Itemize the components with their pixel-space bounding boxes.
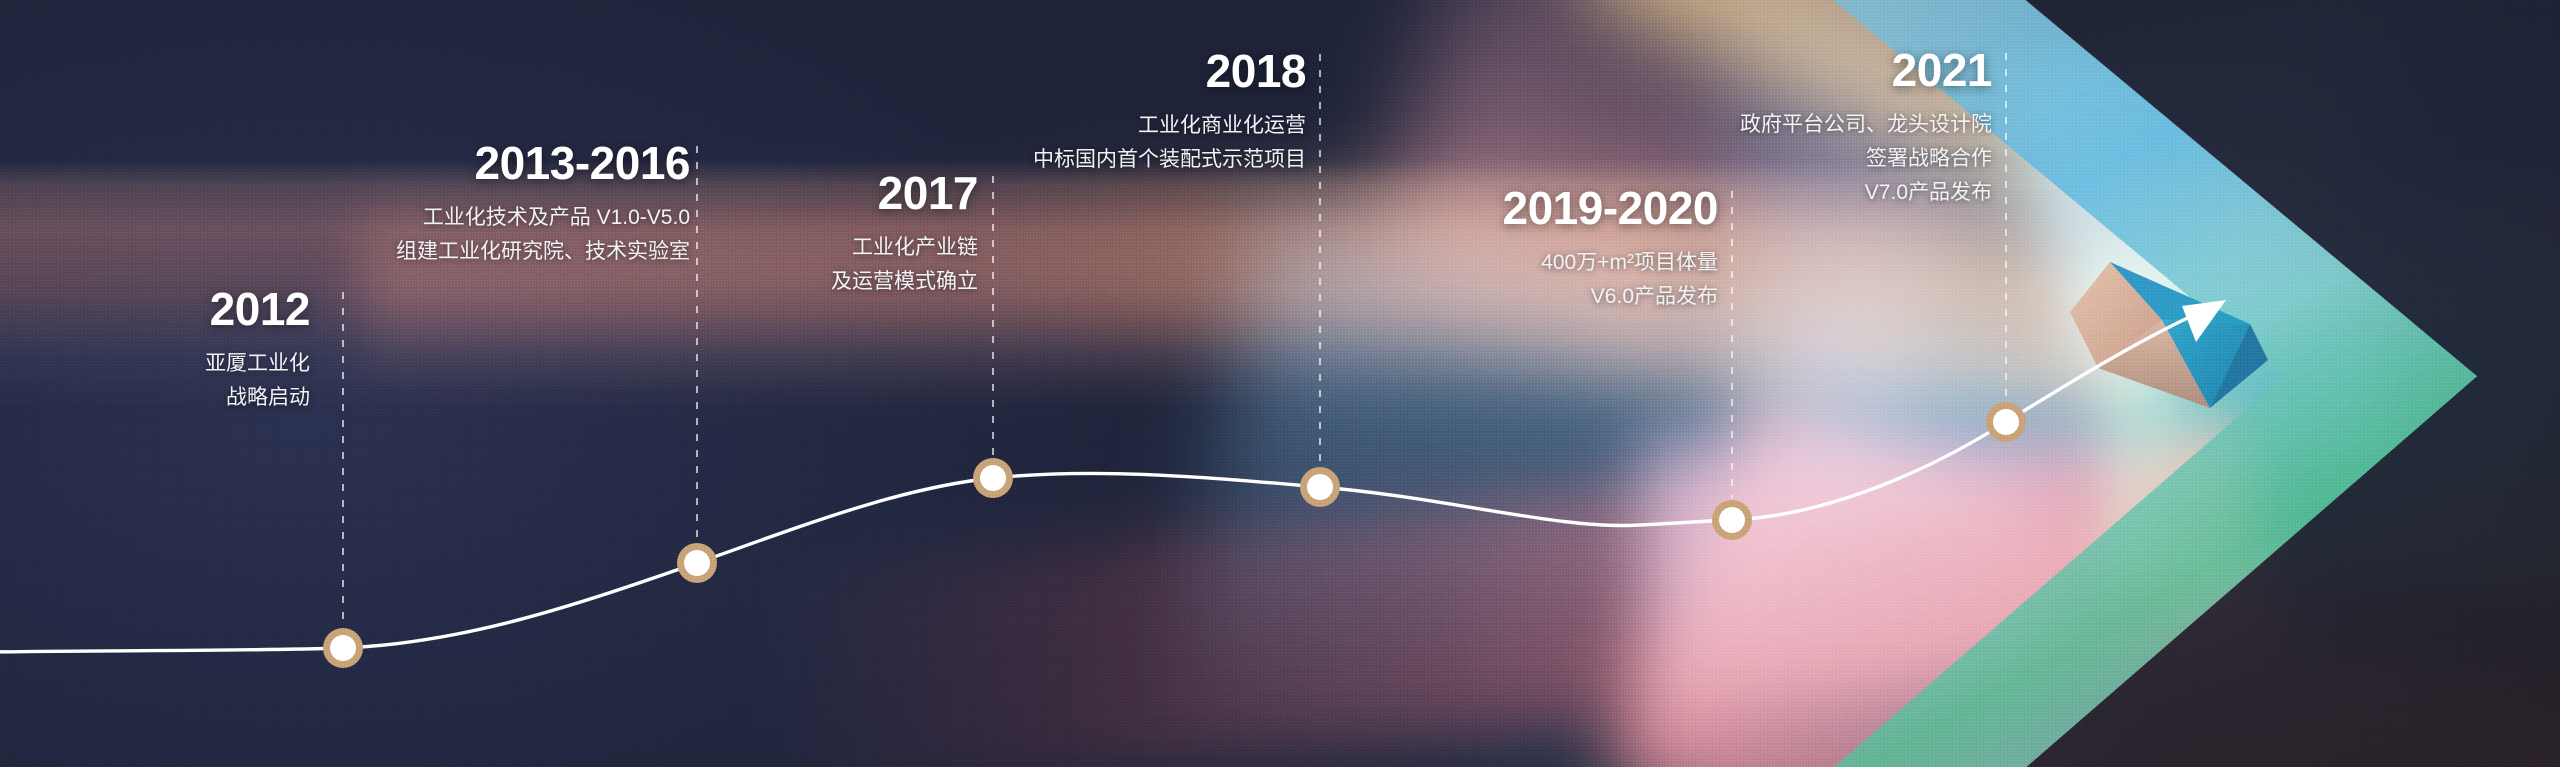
vignette-overlay <box>0 0 2560 767</box>
timeline-infographic: 2012亚厦工业化战略启动2013-2016工业化技术及产品 V1.0-V5.0… <box>0 0 2560 767</box>
